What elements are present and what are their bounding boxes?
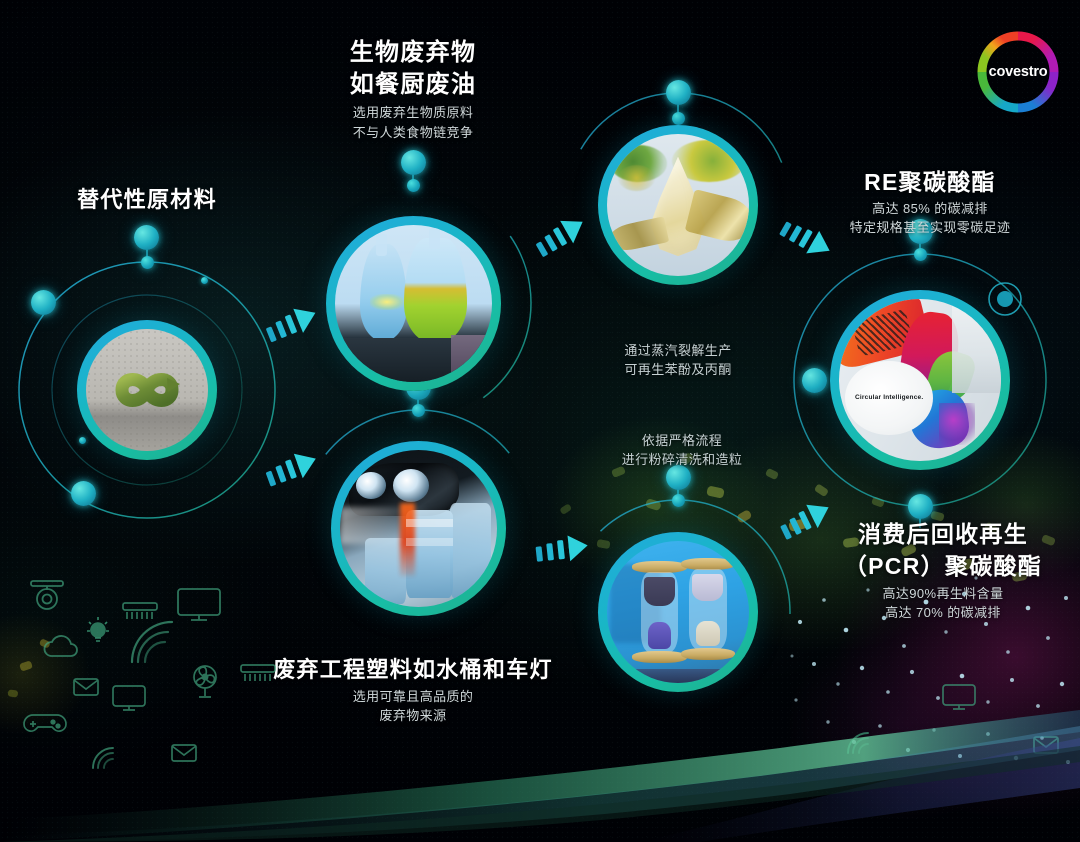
label-waste-plastics-sub-line2: 废弃物来源 <box>258 707 568 725</box>
label-re-pc-sub-line1: 高达 85% 的碳减排 <box>800 200 1060 218</box>
orbit-dot-bio-top <box>401 150 426 175</box>
note-steam-cracking-line1: 通过蒸汽裂解生产 <box>598 342 758 361</box>
label-waste-plastics-sub-line1: 选用可靠且高品质的 <box>258 688 568 706</box>
label-bio-waste-sub-line2: 不与人类食物链竞争 <box>293 124 533 142</box>
node-alternative-raw-materials[interactable] <box>77 320 217 460</box>
label-pcr-title-line1: 消费后回收再生 <box>818 520 1068 549</box>
orbit-dot-small-a <box>201 277 208 284</box>
orbit-dot-repc-bottom <box>908 494 933 519</box>
label-pcr-sub-line2: 高达 70% 的碳减排 <box>818 604 1068 622</box>
orbit-dot-repc-left <box>802 368 827 393</box>
orbit-dot-pellet-stem <box>672 494 685 507</box>
label-re-pc-sub-line2: 特定规格甚至实现零碳足迹 <box>800 219 1060 237</box>
orbit-dot-stem-left <box>141 256 154 269</box>
node-image-waste-engineering-plastics <box>340 450 497 607</box>
note-grinding-line1: 依据严格流程 <box>598 432 766 451</box>
wifi-icon <box>128 618 176 666</box>
envelope-icon-2 <box>170 742 198 764</box>
arrow-alt-raw-to-waste <box>258 441 328 497</box>
security-camera-icon <box>26 578 68 612</box>
node-image-re-polycarbonate: Circular Intelligence. <box>839 299 1001 461</box>
node-waste-engineering-plastics[interactable] <box>331 441 506 616</box>
circular-intelligence-badge: Circular Intelligence. <box>845 361 932 436</box>
orbit-dot-small-b <box>79 437 86 444</box>
covestro-wordmark: covestro <box>989 64 1048 80</box>
node-bio-waste[interactable] <box>326 216 501 391</box>
arrow-bio-to-oil <box>527 208 597 264</box>
cloud-icon <box>40 632 84 660</box>
orbit-dot-waste-stem <box>412 404 425 417</box>
node-image-recycled-pellets <box>607 541 749 683</box>
wifi-icon-2 <box>90 745 116 771</box>
gamepad-icon <box>22 708 68 738</box>
node-re-polycarbonate[interactable]: Circular Intelligence. <box>830 290 1010 470</box>
infographic-canvas: Circular Intelligence. <box>0 0 1080 842</box>
infinity-symbol-icon <box>94 362 200 418</box>
node-oil-droplet[interactable] <box>598 125 758 285</box>
orbit-dot-left-upper <box>31 290 56 315</box>
monitor-icon <box>175 586 223 624</box>
node-recycled-pellets[interactable] <box>598 532 758 692</box>
fan-icon <box>188 664 222 700</box>
envelope-icon <box>72 676 100 698</box>
note-steam-cracking-line2: 可再生苯酚及丙酮 <box>598 361 758 380</box>
air-conditioner-icon-2 <box>238 663 278 685</box>
orbit-dot-top-left <box>134 225 159 250</box>
label-bio-waste-title-line1: 生物废弃物 <box>293 38 533 68</box>
covestro-logo[interactable]: covestro <box>974 28 1062 116</box>
label-waste-plastics-title: 废弃工程塑料如水桶和车灯 <box>258 656 568 684</box>
node-image-alternative-raw-materials <box>86 329 208 451</box>
wifi-icon-3 <box>845 730 871 756</box>
monitor-icon-3 <box>940 682 978 714</box>
lightbulb-icon <box>84 615 112 645</box>
label-alternative-raw-materials-title: 替代性原材料 <box>34 186 260 214</box>
orbit-dot-bio-stem <box>407 179 420 192</box>
monitor-icon-2 <box>110 683 148 715</box>
orbit-dot-oil-top <box>666 80 691 105</box>
circular-intelligence-label: Circular Intelligence. <box>855 394 923 401</box>
orbit-dot-oil-stem <box>672 112 685 125</box>
envelope-icon-3 <box>1032 734 1060 756</box>
node-image-oil-droplet <box>607 134 749 276</box>
orbit-dot-repc-stem <box>914 248 927 261</box>
label-pcr-title-line2: （PCR）聚碳酸酯 <box>818 552 1068 581</box>
orbit-dot-left-lower <box>71 481 96 506</box>
arrow-waste-to-pellets <box>528 522 598 578</box>
note-grinding-line2: 进行粉碎清洗和造粒 <box>598 451 766 470</box>
label-re-pc-title: RE聚碳酸酯 <box>810 168 1050 197</box>
label-bio-waste-sub-line1: 选用废弃生物质原料 <box>293 104 533 122</box>
label-pcr-sub-line1: 高达90%再生料含量 <box>818 585 1068 603</box>
label-bio-waste-title-line2: 如餐厨废油 <box>293 70 533 100</box>
node-image-bio-waste <box>335 225 492 382</box>
arrow-alt-raw-to-bio <box>258 296 328 352</box>
